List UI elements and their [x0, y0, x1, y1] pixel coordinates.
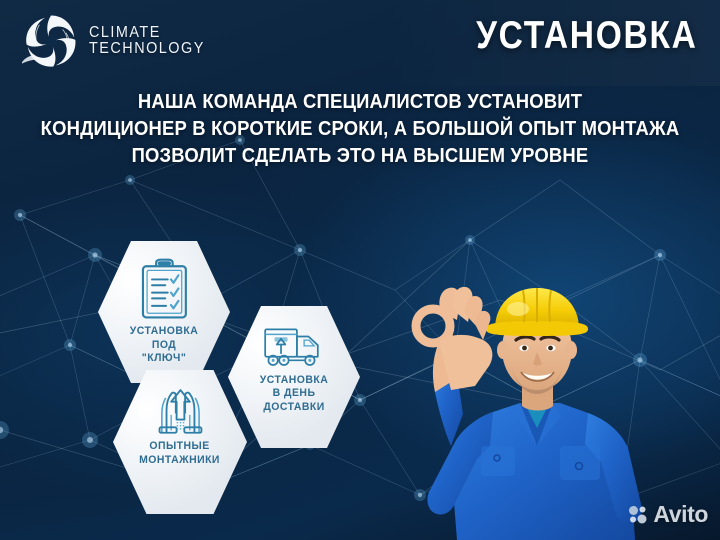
avito-watermark: Avito [628, 501, 708, 528]
headline-line-1: НАША КОМАНДА СПЕЦИАЛИСТОВ УСТАНОВИТ [36, 88, 684, 115]
hands-holding-arrow-icon [151, 387, 210, 435]
feature-label-same-day: УСТАНОВКА В ДЕНЬ ДОСТАВКИ [260, 374, 328, 415]
headline-line-2: КОНДИЦИОНЕР В КОРОТКИЕ СРОКИ, А БОЛЬШОЙ … [36, 115, 684, 142]
avito-label: Avito [653, 501, 708, 528]
clipboard-checklist-icon [138, 258, 191, 321]
delivery-truck-icon [263, 325, 325, 368]
feature-label-experts: ОПЫТНЫЕ МОНТАЖНИКИ [140, 440, 221, 467]
headline: НАША КОМАНДА СПЕЦИАЛИСТОВ УСТАНОВИТ КОНД… [0, 88, 720, 169]
worker-ok-gesture [416, 287, 492, 392]
promo-poster: CLIMATE TECHNOLOGY УСТАНОВКА НАША КОМАНД… [0, 0, 720, 540]
fan-swirl-logo-icon [22, 12, 80, 70]
worker-photo [385, 214, 695, 540]
brand-name-line2: TECHNOLOGY [89, 41, 205, 57]
brand-name-line1: CLIMATE [89, 25, 205, 41]
avito-dots-icon [628, 505, 648, 525]
brand-logo: CLIMATE TECHNOLOGY [22, 12, 214, 70]
page-title: УСТАНОВКА [476, 14, 698, 58]
headline-line-3: ПОЗВОЛИТ СДЕЛАТЬ ЭТО НА ВЫСШЕМ УРОВНЕ [36, 142, 684, 169]
brand-name: CLIMATE TECHNOLOGY [89, 25, 205, 57]
feature-label-turnkey: УСТАНОВКА ПОД "КЛЮЧ" [130, 325, 198, 366]
